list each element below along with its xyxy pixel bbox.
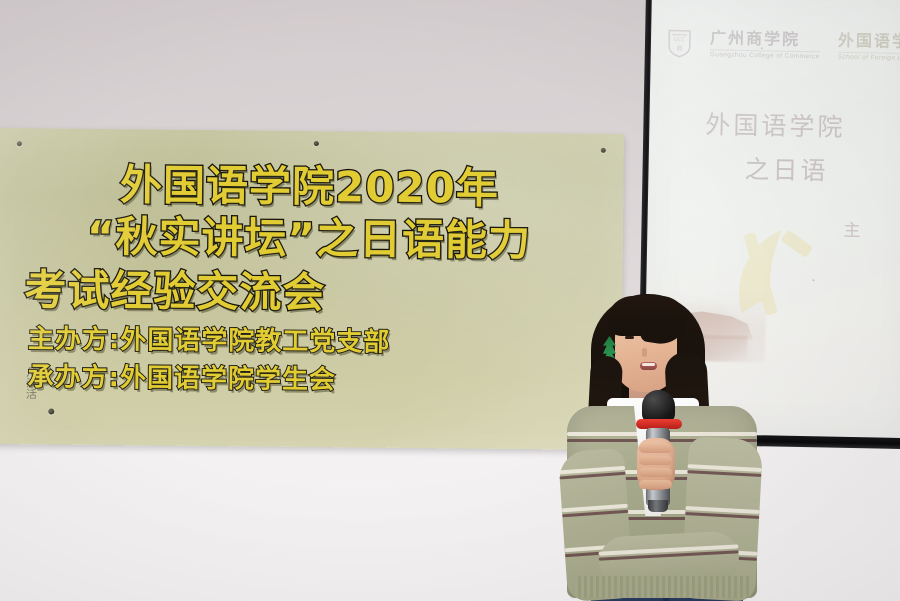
screw-icon bbox=[48, 409, 54, 415]
speaker-person bbox=[545, 286, 795, 601]
screw-icon bbox=[601, 148, 606, 153]
eye-left bbox=[625, 336, 634, 339]
slide-title-line-1: 外国语学院 bbox=[705, 105, 846, 144]
svg-text:GCC: GCC bbox=[674, 37, 686, 43]
slide-speck bbox=[812, 279, 814, 281]
college-crest-icon: GCC 商 bbox=[667, 28, 693, 57]
screw-icon bbox=[314, 141, 319, 146]
microphone-tip bbox=[648, 500, 668, 512]
finger bbox=[639, 444, 672, 453]
logo-primary-cn: 广州商学院 bbox=[710, 30, 820, 48]
nose bbox=[642, 348, 647, 357]
logo-primary: 广州商学院 Guangzhou College of Commerce bbox=[710, 30, 820, 61]
banner-line-3: 考试经验交流会 bbox=[0, 256, 326, 320]
svg-text:商: 商 bbox=[676, 44, 682, 52]
mouth bbox=[640, 362, 657, 370]
finger bbox=[639, 468, 672, 477]
slide-speck bbox=[761, 47, 763, 49]
cardigan-hem bbox=[575, 576, 751, 598]
slide-title-line-2: 之日语 bbox=[744, 150, 829, 188]
screw-icon bbox=[17, 141, 22, 146]
logo-secondary-en: School of Foreign La bbox=[838, 51, 900, 62]
finger bbox=[639, 456, 672, 465]
logo-primary-en: Guangzhou College of Commerce bbox=[710, 49, 820, 61]
hair-bangs bbox=[607, 296, 687, 336]
finger bbox=[639, 480, 672, 489]
photo-scene: 凡演活 外国语学院2020年 “秋实讲坛”之日语能力 考试经验交流会 主办方:外… bbox=[0, 0, 900, 601]
logo-secondary-cn: 外国语学 bbox=[838, 32, 900, 49]
event-banner-board: 凡演活 外国语学院2020年 “秋实讲坛”之日语能力 考试经验交流会 主办方:外… bbox=[0, 128, 624, 450]
banner-organizer: 主办方:外国语学院教工党支部 bbox=[0, 318, 391, 359]
logo-secondary: 外国语学 School of Foreign La bbox=[838, 32, 900, 62]
banner-host: 承办方:外国语学院学生会 bbox=[0, 356, 336, 396]
slide-logo-row: GCC 商 广州商学院 Guangzhou College of Commerc… bbox=[667, 28, 900, 62]
slide-speaker-label: 主 bbox=[843, 216, 862, 241]
